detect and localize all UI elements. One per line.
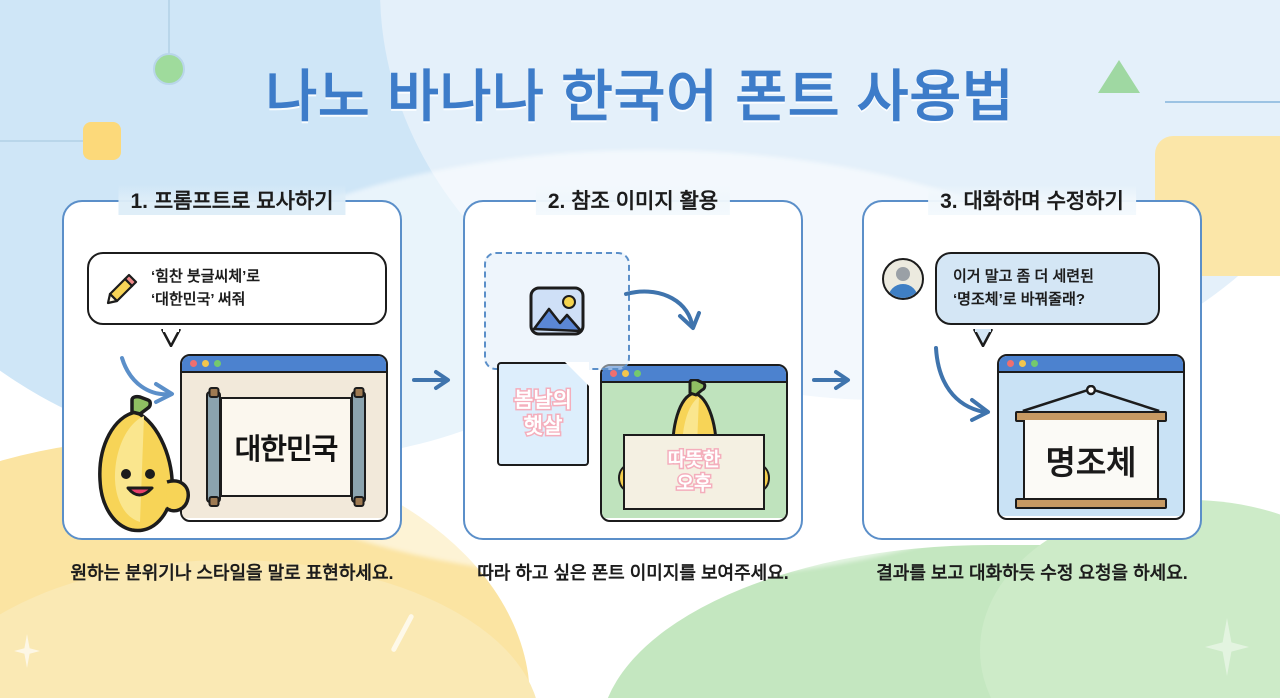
flow-arrow-reference-to-result (622, 282, 706, 338)
reference-card-text: 봄날의 햇살 (499, 388, 587, 441)
panel-1-heading: 1. 프롬프트로 묘사하기 (118, 185, 345, 215)
prompt-bubble-1-text: ‘힘찬 붓글씨체’로 ‘대한민국’ 써줘 (151, 266, 260, 311)
window-close-dot[interactable] (610, 370, 617, 377)
flow-arrow-bubble-to-result-1 (112, 350, 184, 410)
reference-note-card: 봄날의 햇살 (497, 362, 589, 466)
browser-titlebar (182, 356, 386, 373)
banner-cloth: 명조체 (1023, 420, 1159, 500)
browser-window-result-3: 명조체 (997, 354, 1185, 520)
browser-window-result-1: 대한민국 (180, 354, 388, 522)
image-placeholder-icon (528, 285, 586, 337)
window-close-dot[interactable] (1007, 360, 1014, 367)
panel-3-heading: 3. 대화하며 수정하기 (928, 185, 1136, 215)
banana-mascot-1 (74, 394, 192, 536)
window-minimize-dot[interactable] (202, 360, 209, 367)
avatar-body (888, 284, 918, 300)
banner-rod-bottom (1015, 498, 1167, 509)
prompt-bubble-1: ‘힘찬 붓글씨체’로 ‘대한민국’ 써줘 (87, 252, 387, 325)
window-maximize-dot[interactable] (214, 360, 221, 367)
window-maximize-dot[interactable] (634, 370, 641, 377)
flow-arrow-step2-to-step3 (812, 368, 854, 392)
scroll-knob (208, 496, 219, 507)
pencil-icon (105, 272, 139, 306)
window-maximize-dot[interactable] (1031, 360, 1038, 367)
browser-content: 명조체 (999, 373, 1183, 516)
window-minimize-dot[interactable] (622, 370, 629, 377)
hanging-banner: 명조체 (1015, 385, 1167, 509)
user-avatar-icon (882, 258, 924, 300)
browser-titlebar (999, 356, 1183, 373)
infographic-canvas: 나노 바나나 한국어 폰트 사용법 1. 프롬프트로 묘사하기 (0, 0, 1280, 698)
panel-1-caption: 원하는 분위기나 스타일을 말로 표현하세요. (62, 560, 402, 588)
browser-content: 따뜻한 오후 (602, 383, 786, 518)
page-title: 나노 바나나 한국어 폰트 사용법 (0, 52, 1280, 133)
scroll-knob (353, 387, 364, 398)
panel-step-3: 3. 대화하며 수정하기 명조체 (862, 200, 1202, 540)
banner-string (1015, 385, 1167, 413)
bubble-tail-1 (160, 329, 182, 347)
browser-content: 대한민국 (182, 373, 386, 518)
calligraphy-scroll: 대한민국 (202, 391, 370, 503)
scroll-knob (353, 496, 364, 507)
browser-window-result-2: 따뜻한 오후 (600, 364, 788, 522)
decorative-vertical-line (168, 0, 170, 58)
reference-upload-dropzone[interactable] (484, 252, 630, 370)
panel-3-caption: 결과를 보고 대화하듯 수정 요청을 하세요. (862, 560, 1202, 588)
prompt-bubble-3-text: 이거 말고 좀 더 세련된 ‘명조체’로 바꿔줄래? (953, 266, 1142, 311)
panel-2-caption: 따라 하고 싶은 폰트 이미지를 보여주세요. (463, 560, 803, 588)
window-close-dot[interactable] (190, 360, 197, 367)
flow-arrow-bubble-to-result-3 (928, 342, 1006, 424)
window-minimize-dot[interactable] (1019, 360, 1026, 367)
decorative-horizontal-line-left (0, 140, 85, 142)
sign-text: 따뜻한 오후 (625, 448, 763, 496)
result-text-3: 명조체 (1025, 436, 1157, 484)
panel-2-heading: 2. 참조 이미지 활용 (536, 185, 730, 215)
sign-board: 따뜻한 오후 (623, 434, 765, 510)
note-corner-fold (565, 362, 589, 386)
prompt-bubble-3: 이거 말고 좀 더 세련된 ‘명조체’로 바꿔줄래? (935, 252, 1160, 325)
result-text-1: 대한민국 (202, 426, 370, 468)
scroll-knob (208, 387, 219, 398)
flow-arrow-step1-to-step2 (412, 368, 454, 392)
avatar-head (896, 267, 910, 281)
